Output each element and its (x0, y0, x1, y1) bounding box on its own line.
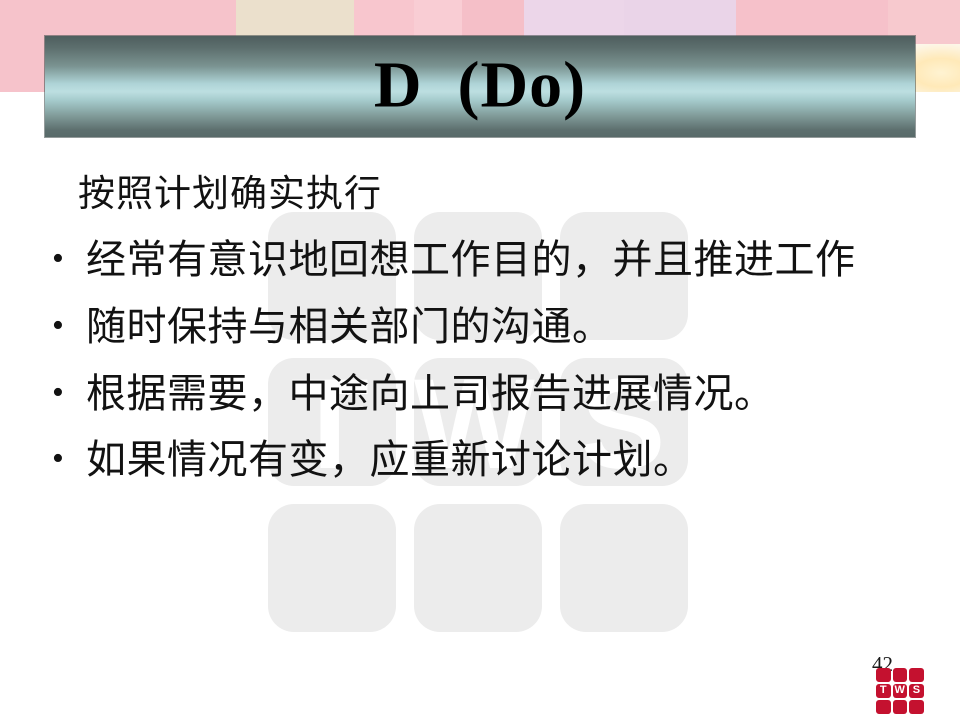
logo-cell (909, 668, 924, 682)
bullet-point-icon: • (52, 234, 86, 283)
watermark-cell (560, 504, 688, 632)
bullet-point-icon: • (52, 368, 86, 417)
bullet-point-icon: • (52, 301, 86, 350)
logo-letters: T W S (876, 683, 924, 698)
bullet-text: 经常有意识地回想工作目的，并且推进工作 (86, 234, 856, 287)
logo-letter-w: W (895, 685, 905, 696)
logo-cell (876, 700, 891, 714)
list-item: • 根据需要，中途向上司报告进展情况。 (0, 368, 960, 421)
bullet-text: 如果情况有变，应重新讨论计划。 (86, 434, 694, 487)
logo-cell (876, 668, 891, 682)
title-banner: D (Do) (45, 36, 915, 137)
list-item: • 经常有意识地回想工作目的，并且推进工作 (0, 234, 960, 287)
watermark-cell (268, 504, 396, 632)
list-item: • 随时保持与相关部门的沟通。 (0, 301, 960, 354)
bullet-point-icon: • (52, 434, 86, 483)
page-title: D (Do) (45, 52, 915, 118)
list-item: • 如果情况有变，应重新讨论计划。 (0, 434, 960, 487)
tws-logo: T W S (876, 668, 924, 714)
bullet-list: • 经常有意识地回想工作目的，并且推进工作 • 随时保持与相关部门的沟通。 • … (0, 234, 960, 487)
lead-line: 按照计划确实执行 (78, 170, 960, 220)
logo-letter-s: S (913, 685, 920, 696)
slide-body: 按照计划确实执行 • 经常有意识地回想工作目的，并且推进工作 • 随时保持与相关… (0, 170, 960, 501)
bullet-text: 随时保持与相关部门的沟通。 (86, 301, 613, 354)
slide-canvas: D (Do) T W S 按照计划确实执行 • 经常有意识地回想工作目的，并且推… (0, 0, 960, 720)
logo-letter-t: T (880, 685, 887, 696)
logo-cell (909, 700, 924, 714)
watermark-cell (414, 504, 542, 632)
bullet-text: 根据需要，中途向上司报告进展情况。 (86, 368, 775, 421)
logo-cell (893, 668, 908, 682)
logo-cell (893, 700, 908, 714)
